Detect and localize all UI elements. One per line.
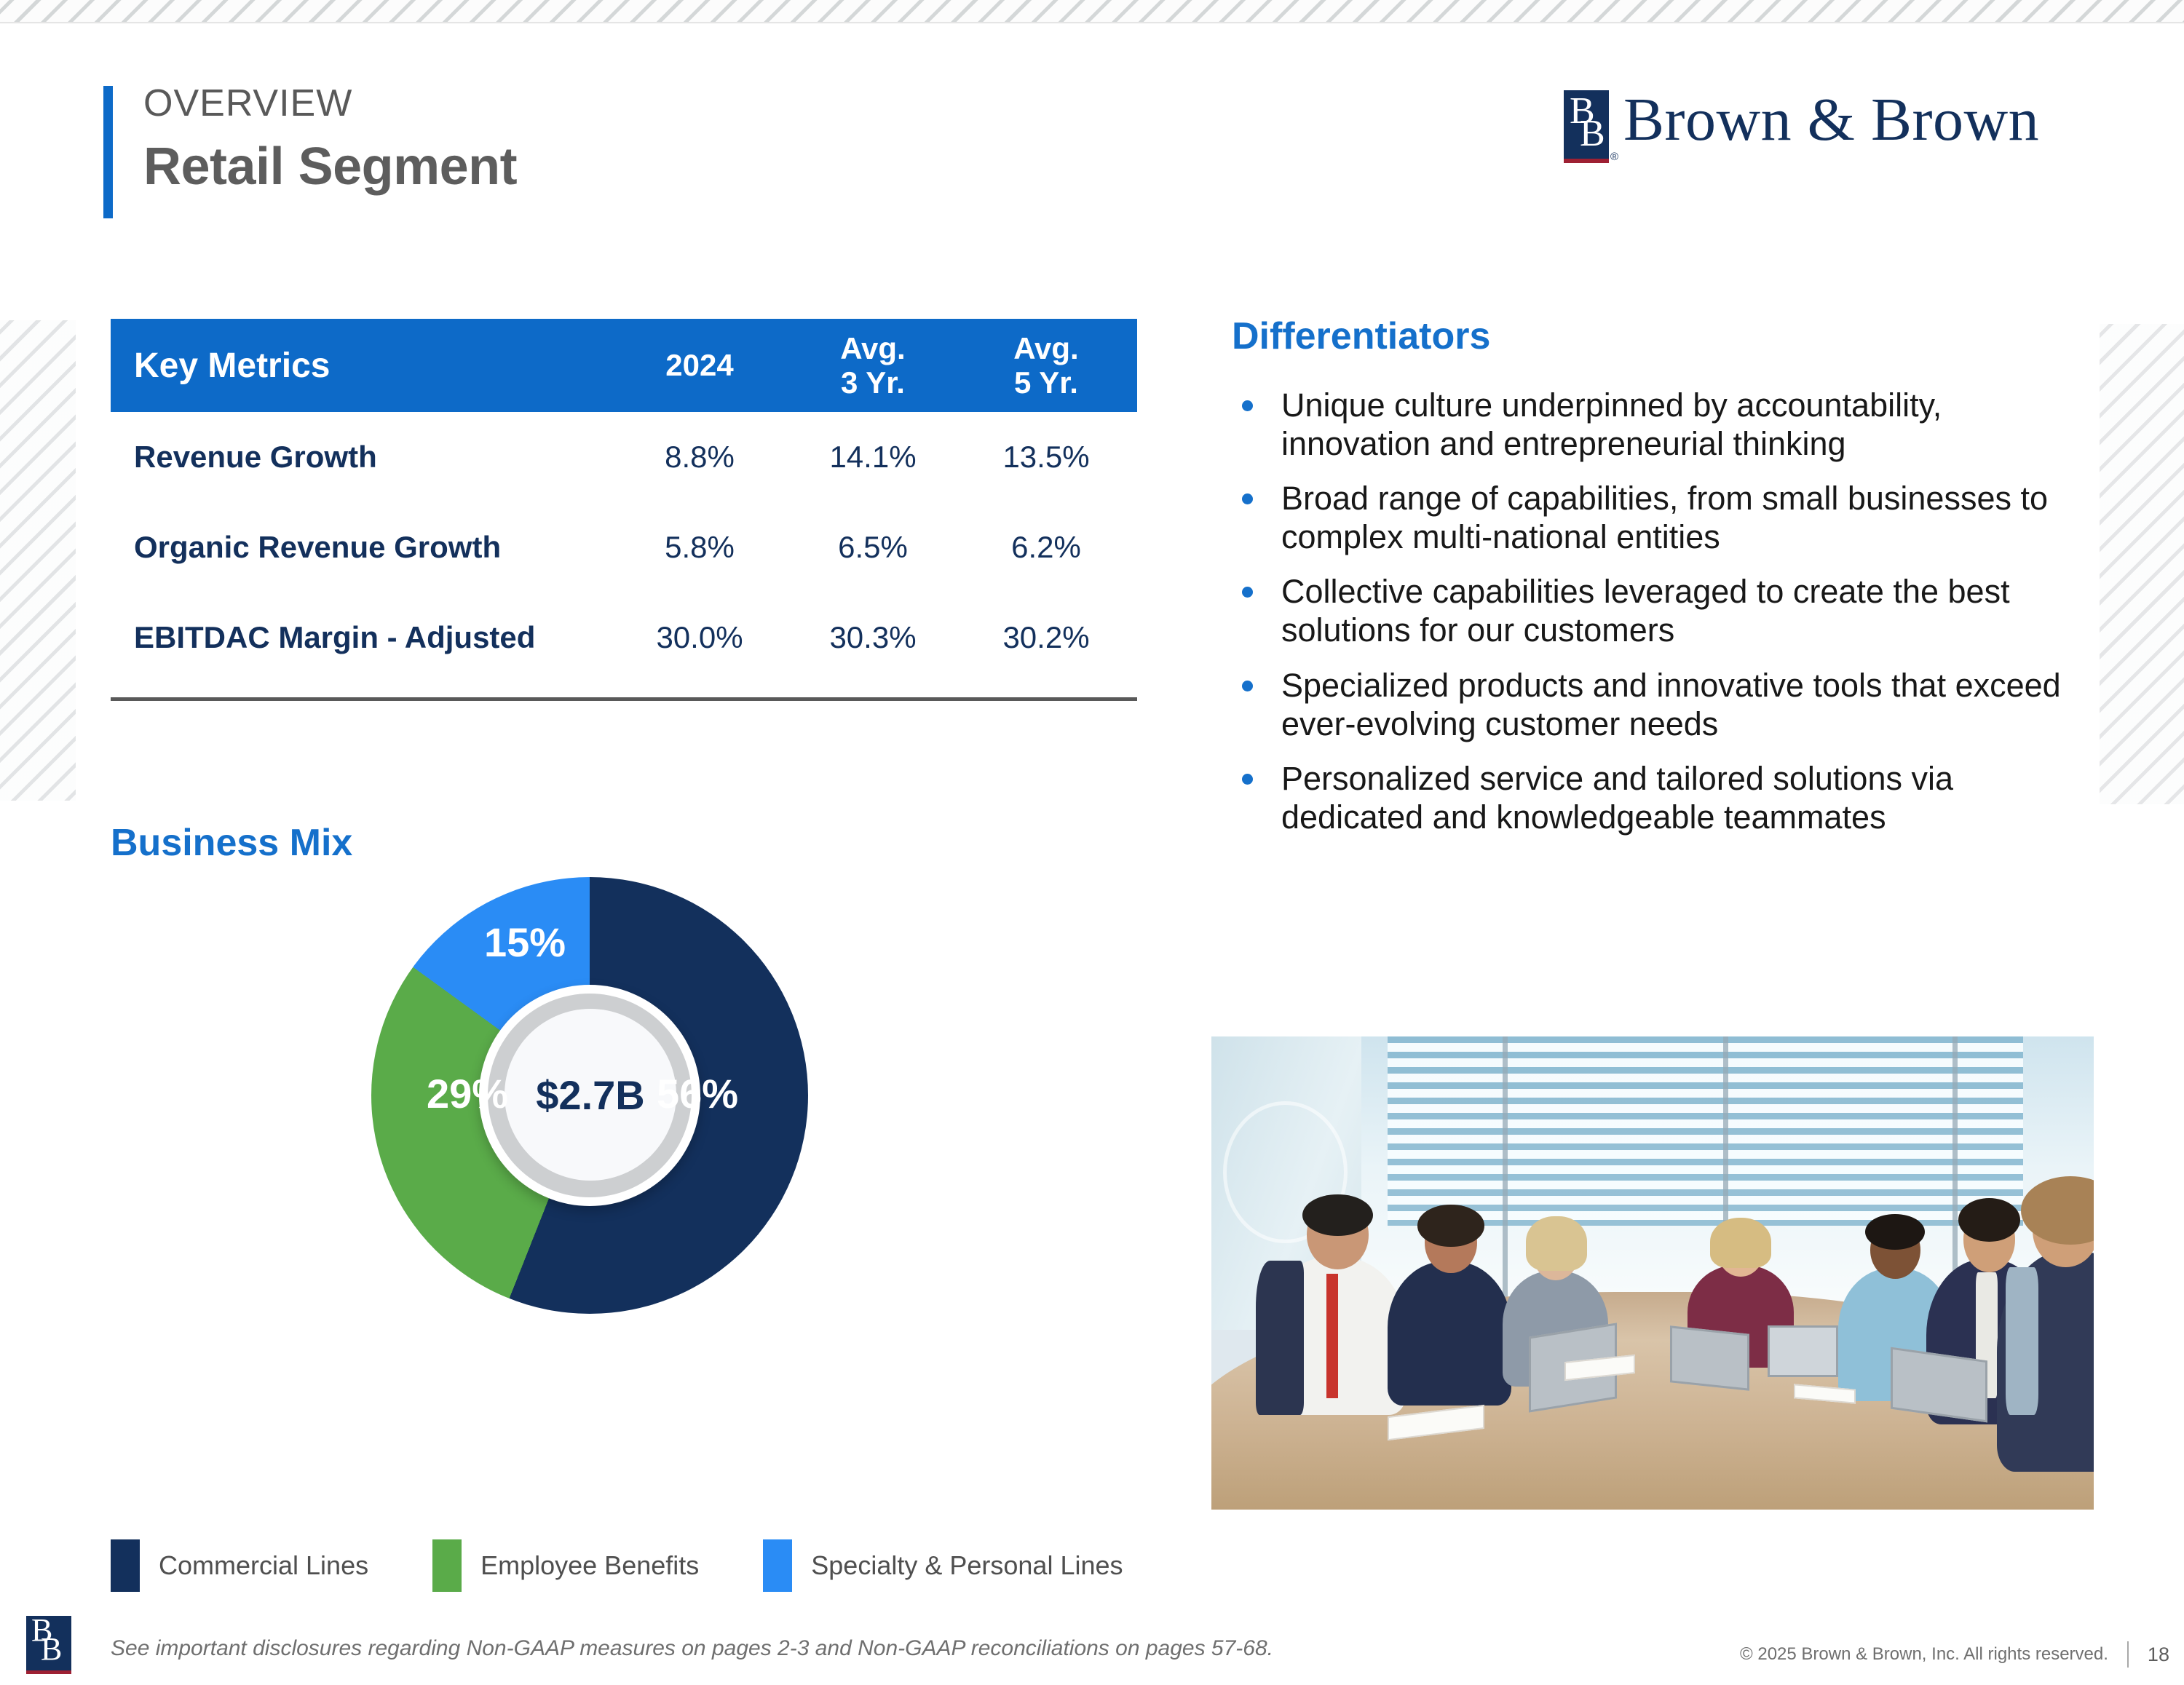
logo-letter-b-bottom: B: [1580, 115, 1605, 153]
metric-label: Revenue Growth: [111, 440, 613, 475]
legend-label: Employee Benefits: [480, 1550, 699, 1581]
list-item: Broad range of capabilities, from small …: [1232, 479, 2098, 556]
footer-logo-letter-b-bottom: B: [41, 1633, 62, 1665]
legend-item-specialty-personal-lines: Specialty & Personal Lines: [763, 1539, 1123, 1592]
conference-room-photo: [1211, 1036, 2094, 1510]
bullet-icon: [1242, 493, 1253, 504]
legend-item-employee-benefits: Employee Benefits: [432, 1539, 699, 1592]
legend-label: Commercial Lines: [159, 1550, 368, 1581]
photo-person-hair: [1710, 1218, 1771, 1268]
legend-label: Specialty & Personal Lines: [811, 1550, 1123, 1581]
column-header-avg-3yr: Avg. 3 Yr.: [786, 331, 960, 400]
list-item: Personalized service and tailored soluti…: [1232, 759, 2098, 836]
footer-logo-red-bar: [26, 1670, 71, 1674]
header-accent-bar: [103, 86, 113, 218]
list-item: Specialized products and innovative tool…: [1232, 666, 2098, 743]
column-header-2024: 2024: [613, 348, 786, 382]
table-row: Organic Revenue Growth 5.8% 6.5% 6.2%: [111, 502, 1137, 592]
column-header-avg-3yr-line1: Avg.: [786, 331, 960, 365]
photo-person: [1997, 1188, 2094, 1472]
list-item: Unique culture underpinned by accountabi…: [1232, 386, 2098, 463]
page-eyebrow: OVERVIEW: [143, 82, 352, 125]
photo-person: [1265, 1207, 1406, 1415]
logo-red-bar: [1564, 159, 1609, 163]
bullet-icon: [1242, 774, 1253, 785]
metric-value-2024: 30.0%: [613, 620, 786, 655]
metric-value-2024: 5.8%: [613, 530, 786, 565]
right-decorative-panel: [2100, 324, 2184, 804]
photo-laptop: [1670, 1325, 1749, 1390]
donut-hub-inner: $2.7B: [505, 1009, 676, 1181]
metric-value-avg3: 6.5%: [786, 530, 960, 565]
legend-swatch-employee-benefits: [432, 1539, 462, 1592]
donut-slice-label-specialty-personal-lines: 15%: [484, 919, 566, 966]
photo-laptop: [1768, 1325, 1838, 1378]
list-item-text: Broad range of capabilities, from small …: [1281, 480, 2048, 555]
column-header-avg-5yr-line1: Avg.: [960, 331, 1133, 365]
column-header-avg-5yr-line2: 5 Yr.: [960, 365, 1133, 400]
legend-item-commercial-lines: Commercial Lines: [111, 1539, 368, 1592]
left-decorative-panel: [0, 320, 76, 801]
photo-person-hair: [1302, 1194, 1373, 1236]
metric-value-2024: 8.8%: [613, 440, 786, 475]
metric-label: EBITDAC Margin - Adjusted: [111, 620, 613, 655]
top-decorative-band: [0, 0, 2184, 22]
photo-person-tie: [1326, 1274, 1338, 1399]
column-header-key-metrics: Key Metrics: [111, 346, 613, 386]
logo-wordmark: Brown & Brown: [1623, 90, 2039, 150]
photo-person-hair: [1865, 1214, 1925, 1250]
metric-label: Organic Revenue Growth: [111, 530, 613, 565]
differentiators-title: Differentiators: [1232, 314, 1490, 358]
table-row: EBITDAC Margin - Adjusted 30.0% 30.3% 30…: [111, 592, 1137, 683]
list-item-text: Unique culture underpinned by accountabi…: [1281, 386, 1942, 462]
photo-person-body: [1388, 1261, 1511, 1406]
chart-legend: Commercial Lines Employee Benefits Speci…: [111, 1539, 1187, 1592]
photo-person-shirt: [2006, 1267, 2038, 1415]
registered-trademark-icon: ®: [1610, 151, 1618, 163]
list-item-text: Personalized service and tailored soluti…: [1281, 760, 1953, 836]
brown-and-brown-logo: B B ® Brown & Brown: [1564, 90, 2039, 163]
list-item-text: Collective capabilities leveraged to cre…: [1281, 573, 2010, 649]
list-item-text: Specialized products and innovative tool…: [1281, 667, 2061, 742]
photo-window-blinds: [1388, 1036, 2023, 1226]
differentiators-list: Unique culture underpinned by accountabi…: [1232, 386, 2098, 852]
footer-separator: [2127, 1641, 2129, 1668]
section-divider: [111, 697, 1137, 701]
bullet-icon: [1242, 587, 1253, 598]
metric-value-avg5: 6.2%: [960, 530, 1133, 565]
photo-person-hair: [1526, 1216, 1587, 1271]
metric-value-avg5: 30.2%: [960, 620, 1133, 655]
photo-person-jacket: [1256, 1261, 1304, 1415]
page-number: 18: [2148, 1644, 2169, 1666]
top-band-shadow: [0, 22, 2184, 24]
photo-person-hair: [1417, 1205, 1484, 1246]
donut-center-value: $2.7B: [536, 1071, 644, 1119]
legend-swatch-specialty-personal-lines: [763, 1539, 792, 1592]
column-header-avg-5yr: Avg. 5 Yr.: [960, 331, 1133, 400]
donut-slice-label-employee-benefits: 29%: [427, 1070, 508, 1117]
footer-disclosure: See important disclosures regarding Non-…: [111, 1636, 1273, 1661]
business-mix-title: Business Mix: [111, 821, 352, 865]
footer-meta: © 2025 Brown & Brown, Inc. All rights re…: [1740, 1641, 2169, 1668]
bullet-icon: [1242, 400, 1253, 411]
photo-person: [1388, 1216, 1511, 1406]
table-row: Revenue Growth 8.8% 14.1% 13.5%: [111, 412, 1137, 502]
metric-value-avg5: 13.5%: [960, 440, 1133, 475]
business-mix-donut-chart: $2.7B 56% 29% 15%: [371, 877, 808, 1452]
metric-value-avg3: 14.1%: [786, 440, 960, 475]
footer-logo-mark-icon: B B: [26, 1616, 71, 1674]
bullet-icon: [1242, 681, 1253, 691]
list-item: Collective capabilities leveraged to cre…: [1232, 572, 2098, 649]
page-title: Retail Segment: [143, 137, 517, 197]
photo-laptop: [1891, 1347, 1987, 1422]
column-header-avg-3yr-line2: 3 Yr.: [786, 365, 960, 400]
legend-swatch-commercial-lines: [111, 1539, 140, 1592]
donut-slice-label-commercial-lines: 56%: [657, 1070, 738, 1117]
copyright-text: © 2025 Brown & Brown, Inc. All rights re…: [1740, 1644, 2108, 1665]
table-header-row: Key Metrics 2024 Avg. 3 Yr. Avg. 5 Yr.: [111, 319, 1137, 412]
logo-mark-icon: B B ®: [1564, 90, 1609, 163]
metric-value-avg3: 30.3%: [786, 620, 960, 655]
key-metrics-table: Key Metrics 2024 Avg. 3 Yr. Avg. 5 Yr. R…: [111, 319, 1137, 701]
